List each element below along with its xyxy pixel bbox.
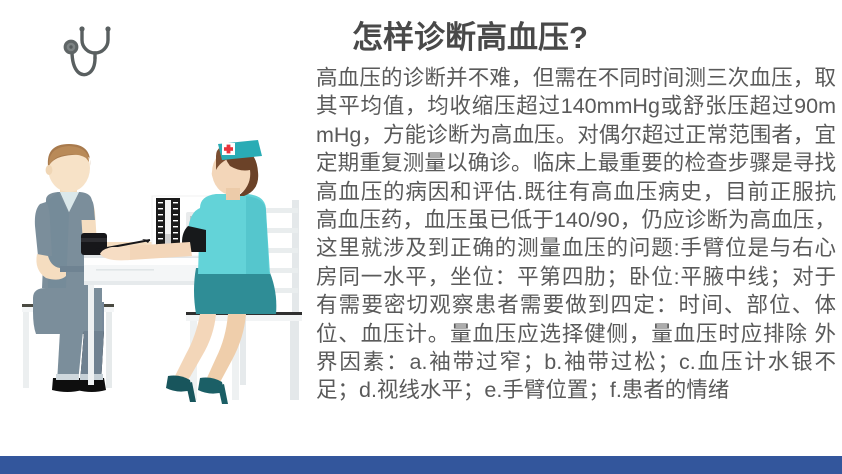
body-paragraph: 高血压的诊断并不难，但需在不同时间测三次血压，取其平均值，均收缩压超过140mm… bbox=[316, 64, 836, 405]
text-column: 怎样诊断高血压? 高血压的诊断并不难，但需在不同时间测三次血压，取其平均值，均收… bbox=[316, 18, 836, 405]
footer-bar bbox=[0, 456, 842, 474]
page-title: 怎样诊断高血压? bbox=[352, 18, 836, 58]
nurse-cap bbox=[218, 140, 262, 160]
slide-canvas: 怎样诊断高血压? 高血压的诊断并不难，但需在不同时间测三次血压，取其平均值，均收… bbox=[0, 0, 842, 474]
nurse-measuring-blood-pressure-illustration bbox=[0, 138, 340, 428]
stethoscope-icon bbox=[48, 18, 128, 90]
